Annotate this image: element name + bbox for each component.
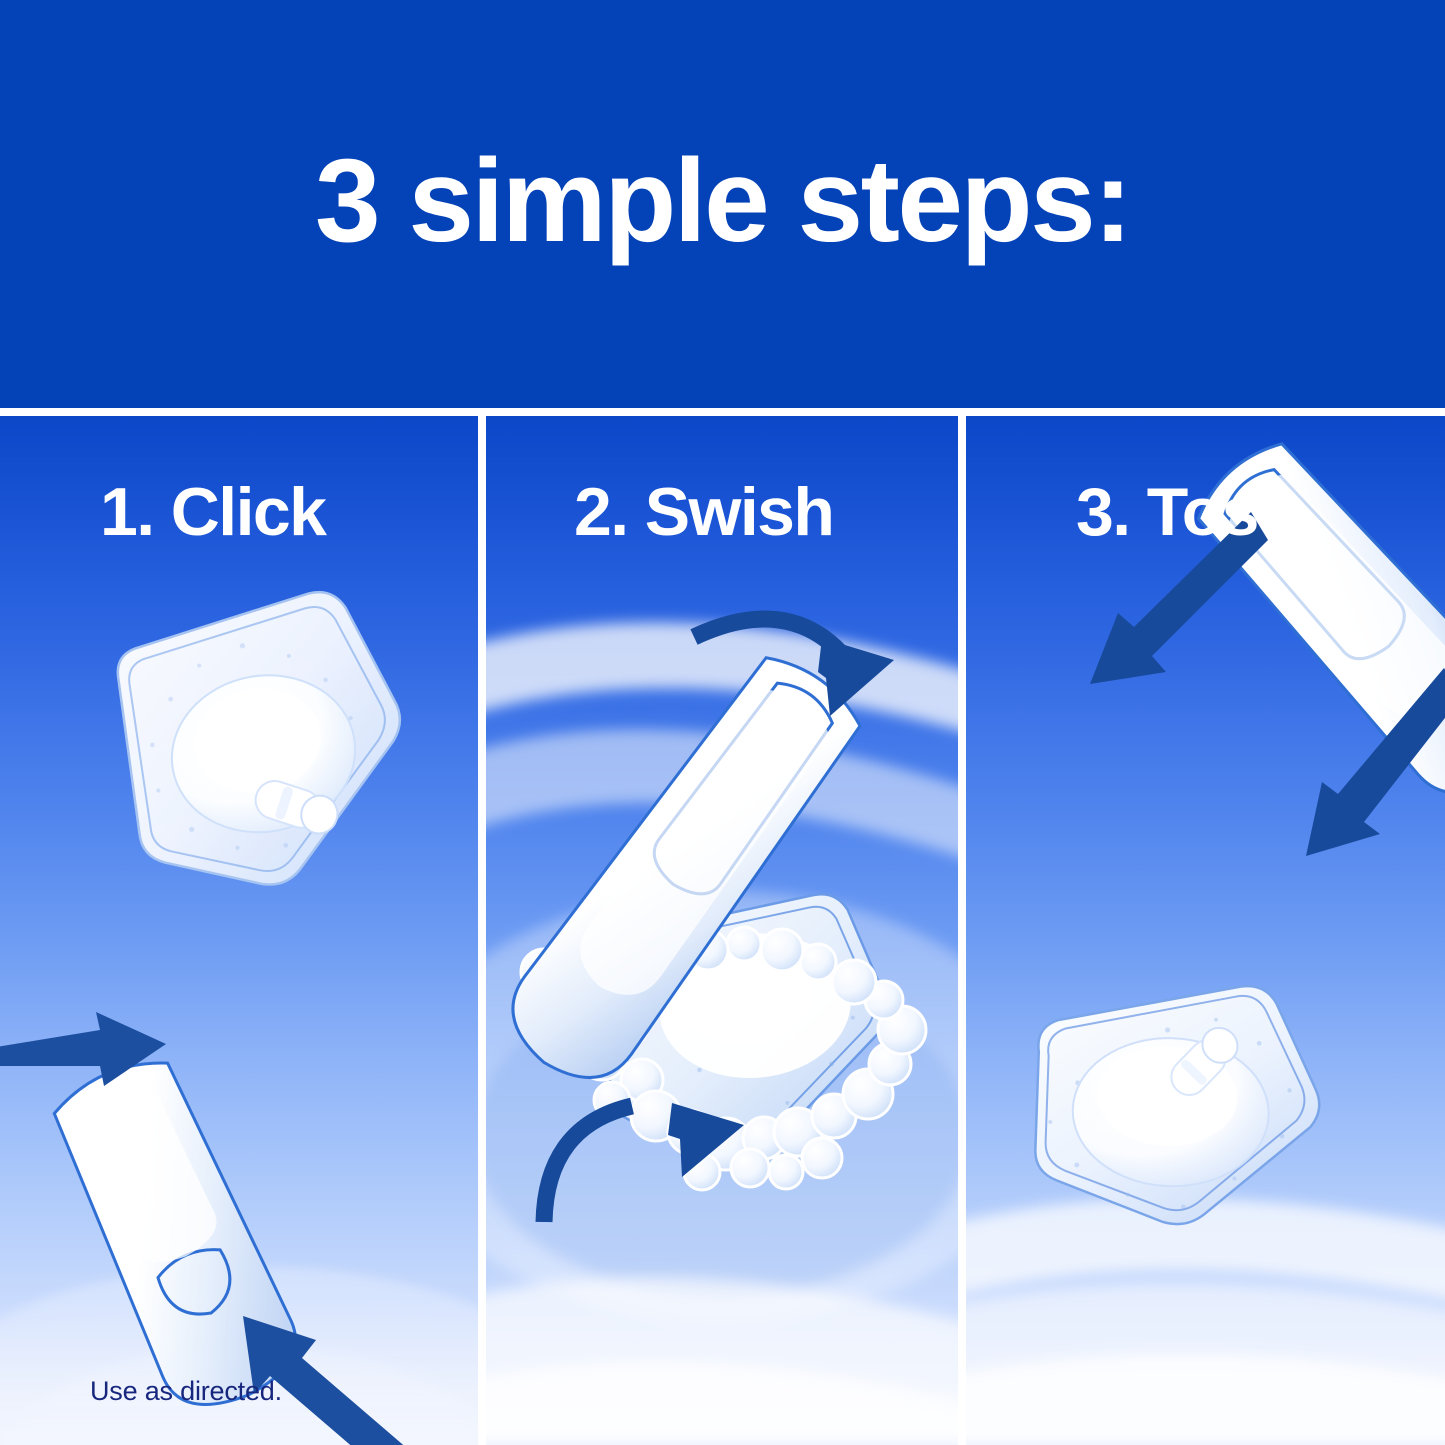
step-1-illustration <box>0 416 478 1445</box>
step-3-illustration <box>966 416 1445 1445</box>
steps-row: 1. Click Use as directed. <box>0 416 1445 1445</box>
step-2-illustration <box>486 416 958 1445</box>
disclaimer-text: Use as directed. <box>90 1376 282 1407</box>
step-1-label: 1. Click <box>100 478 325 546</box>
step-2-label: 2. Swish <box>574 478 833 546</box>
step-3-label: 3. Toss <box>1076 478 1294 546</box>
step-panel-3-toss: 3. Toss <box>966 416 1445 1445</box>
infographic-root: 3 simple steps: <box>0 0 1445 1445</box>
step-panel-2-swish: 2. Swish <box>486 416 958 1445</box>
step-panel-1-click: 1. Click Use as directed. <box>0 416 478 1445</box>
header-banner: 3 simple steps: <box>0 0 1445 408</box>
page-title: 3 simple steps: <box>315 142 1130 266</box>
